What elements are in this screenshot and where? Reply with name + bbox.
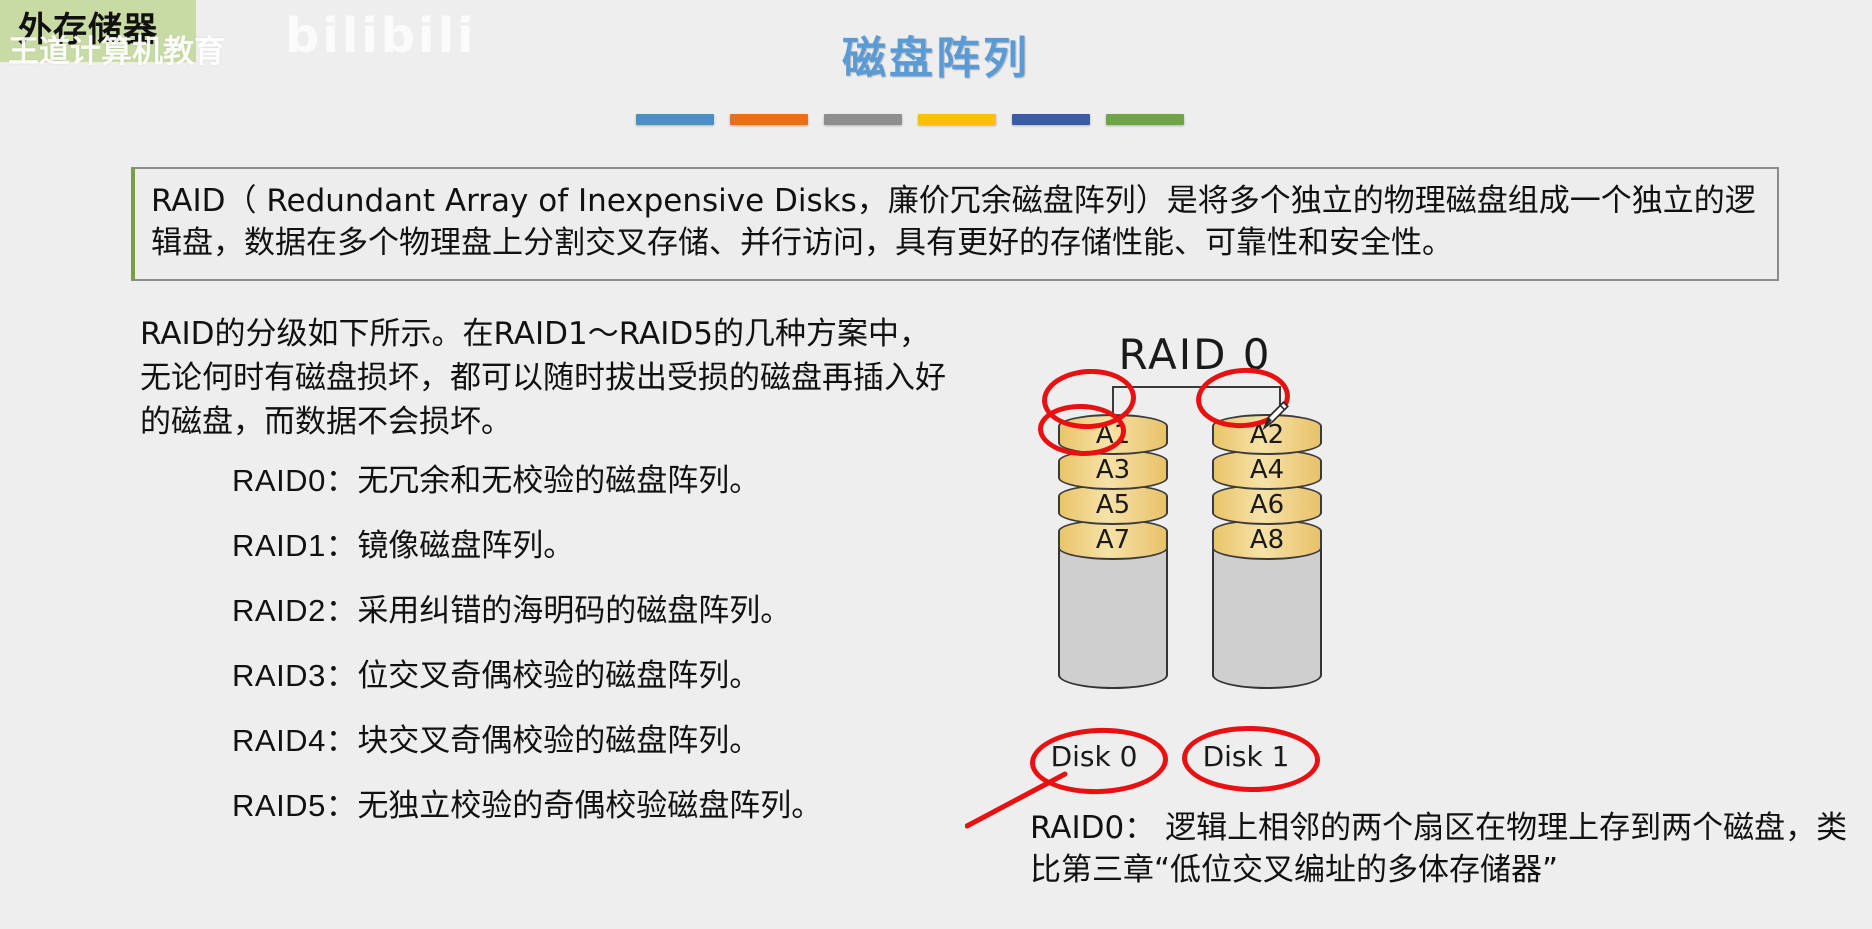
- list-item: RAID5：无独立校验的奇偶校验磁盘阵列。: [232, 790, 932, 822]
- diagram-caption: RAID0： 逻辑上相邻的两个扇区在物理上存到两个磁盘，类比第三章“低位交叉编址…: [1030, 808, 1860, 892]
- raid-level-key: RAID1：: [232, 528, 357, 563]
- disk-body: A8 A6 A4 A2: [1212, 414, 1322, 709]
- disk-label-0: Disk 0: [1030, 740, 1158, 773]
- disk-sector: A6: [1212, 484, 1322, 525]
- raid-level-key: RAID3：: [232, 658, 357, 693]
- raid-level-list: RAID0：无冗余和无校验的磁盘阵列。 RAID1：镜像磁盘阵列。 RAID2：…: [232, 465, 932, 855]
- page-title: 磁盘阵列: [0, 22, 1872, 86]
- list-item: RAID2：采用纠错的海明码的磁盘阵列。: [232, 595, 932, 627]
- disk-sector: A7: [1058, 519, 1168, 560]
- disk-sector: A3: [1058, 449, 1168, 490]
- slide-canvas: 外存储器 王道计算机教育 bilibili 磁盘阵列 RAID（ Redunda…: [0, 0, 1872, 929]
- raid-level-key: RAID5：: [232, 788, 357, 823]
- raid0-diagram: RAID 0 A7 A5 A3 A1 A8 A6 A4 A2: [1030, 330, 1360, 750]
- raid-level-key: RAID0：: [232, 463, 357, 498]
- diagram-title: RAID 0: [1030, 330, 1360, 379]
- raid-level-desc: 镜像磁盘阵列。: [357, 528, 574, 564]
- diagram-bracket: [1112, 386, 1281, 416]
- raid-level-key: RAID2：: [232, 593, 357, 628]
- definition-text: RAID（ Redundant Array of Inexpensive Dis…: [151, 181, 1761, 265]
- color-bar-yellow: [918, 114, 996, 125]
- definition-box: RAID（ Redundant Array of Inexpensive Dis…: [131, 167, 1779, 281]
- raid-level-desc: 无独立校验的奇偶校验磁盘阵列。: [357, 788, 822, 824]
- color-bar-blue: [636, 114, 714, 125]
- raid-level-desc: 块交叉奇偶校验的磁盘阵列。: [357, 723, 760, 759]
- color-bar-green: [1106, 114, 1184, 125]
- color-bar-row: [636, 114, 1184, 125]
- body-paragraph: RAID的分级如下所示。在RAID1～RAID5的几种方案中，无论何时有磁盘损坏…: [140, 312, 950, 444]
- disk-sector: A8: [1212, 519, 1322, 560]
- raid-level-key: RAID4：: [232, 723, 357, 758]
- disk-sector: A4: [1212, 449, 1322, 490]
- raid-level-desc: 采用纠错的海明码的磁盘阵列。: [357, 593, 791, 629]
- color-bar-darkblue: [1012, 114, 1090, 125]
- color-bar-gray: [824, 114, 902, 125]
- list-item: RAID3：位交叉奇偶校验的磁盘阵列。: [232, 660, 932, 692]
- list-item: RAID0：无冗余和无校验的磁盘阵列。: [232, 465, 932, 497]
- list-item: RAID1：镜像磁盘阵列。: [232, 530, 932, 562]
- raid-level-desc: 无冗余和无校验的磁盘阵列。: [357, 463, 760, 499]
- list-item: RAID4：块交叉奇偶校验的磁盘阵列。: [232, 725, 932, 757]
- disk-body: A7 A5 A3 A1: [1058, 414, 1168, 709]
- color-bar-orange: [730, 114, 808, 125]
- disk-label-1: Disk 1: [1182, 740, 1310, 773]
- disk-sector: A1: [1058, 414, 1168, 455]
- disk-sector: A5: [1058, 484, 1168, 525]
- raid-level-desc: 位交叉奇偶校验的磁盘阵列。: [357, 658, 760, 694]
- pencil-cursor-icon: [1258, 398, 1292, 432]
- annotation-arrow-line: [965, 770, 1070, 830]
